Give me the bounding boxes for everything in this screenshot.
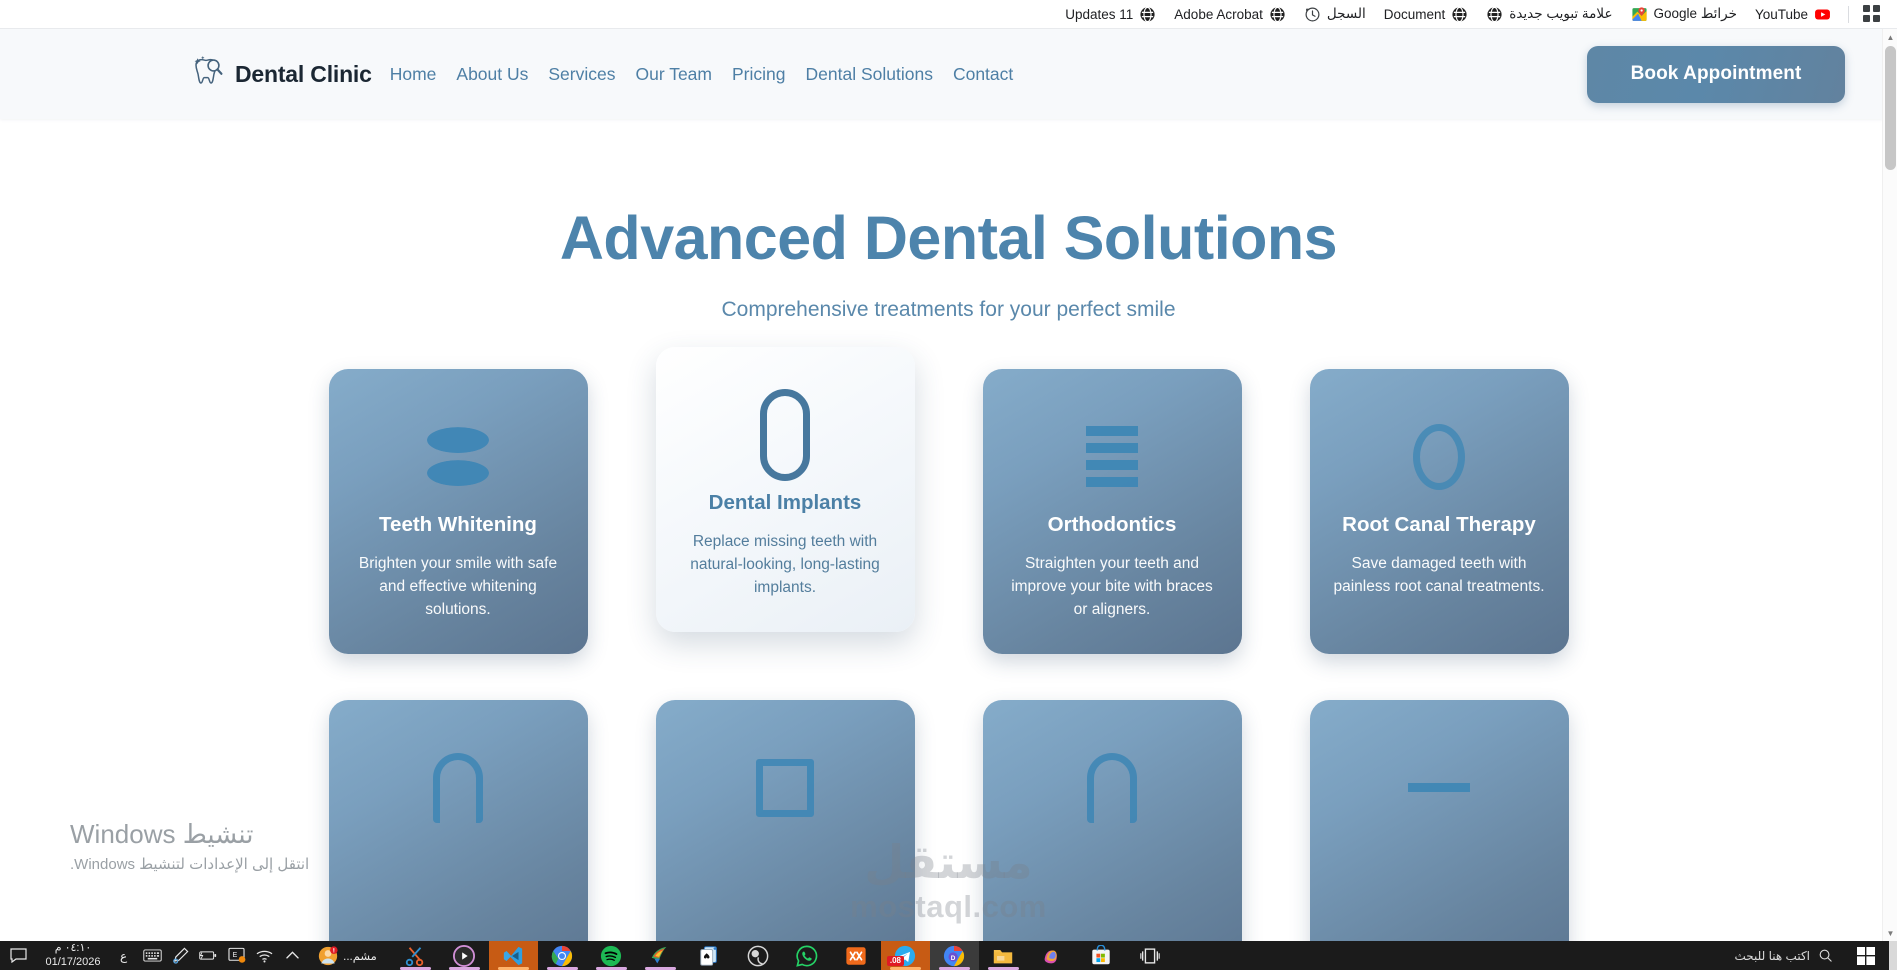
globe-icon	[1451, 6, 1468, 23]
tooth-magnifier-icon	[190, 55, 224, 93]
services-row-1: Teeth Whitening Brighten your smile with…	[0, 369, 1897, 654]
bookmark-label: خرائط Google	[1654, 6, 1737, 22]
windows-taskbar: ٠٤:١٠ م 01/17/2026 ع E	[0, 941, 1897, 970]
bookmark-label: Adobe Acrobat	[1174, 7, 1263, 22]
browser-bookmarks-bar: Updates 11 Adobe Acrobat السجل Document	[0, 0, 1897, 29]
service-card-title: Orthodontics	[1001, 513, 1224, 538]
bookmark-label: السجل	[1327, 6, 1366, 22]
internet-download-manager-icon	[649, 945, 671, 967]
task-view-icon	[1139, 945, 1161, 967]
double-lens-whitening-icon	[347, 409, 570, 505]
avatar	[318, 946, 338, 966]
system-tray: E	[137, 946, 308, 965]
battery-icon[interactable]	[199, 946, 218, 965]
bookmark-history[interactable]: السجل	[1295, 2, 1375, 26]
nav-item-services[interactable]: Services	[548, 64, 615, 85]
pen-icon[interactable]	[171, 946, 190, 965]
taskbar-app-media-player[interactable]	[440, 941, 489, 970]
taskbar-app-buttons: .08 D	[391, 941, 1175, 970]
keyboard-icon[interactable]	[143, 946, 162, 965]
taskbar-clock[interactable]: ٠٤:١٠ م 01/17/2026	[36, 942, 110, 970]
bookmark-new-tab[interactable]: علامة تبويب جديدة	[1477, 2, 1621, 26]
taskbar-search-box[interactable]: اكتب هنا للبحث	[1720, 941, 1843, 970]
show-desktop-button[interactable]	[1889, 941, 1897, 970]
service-card-orthodontics[interactable]: Orthodontics Straighten your teeth and i…	[983, 369, 1242, 654]
scroll-down-arrow[interactable]: ▼	[1883, 925, 1897, 941]
taskbar-app-chrome[interactable]	[538, 941, 587, 970]
service-card-title: Dental Implants	[674, 491, 897, 516]
vs-code-icon	[502, 945, 524, 967]
nav-item-about-us[interactable]: About Us	[456, 64, 528, 85]
taskbar-right-cluster: اكتب هنا للبحث	[1720, 941, 1897, 970]
search-icon	[1818, 948, 1833, 963]
bookmark-updates-11[interactable]: Updates 11	[1056, 2, 1165, 26]
nav-item-home[interactable]: Home	[390, 64, 437, 85]
taskbar-app-xampp[interactable]	[832, 941, 881, 970]
bookmarks-divider	[1848, 6, 1849, 23]
taskbar-task-view-button[interactable]	[1126, 941, 1175, 970]
windows-start-button[interactable]	[1843, 941, 1889, 970]
service-card-row2-2[interactable]	[656, 700, 915, 941]
services-row-2	[0, 700, 1897, 941]
nav-item-contact[interactable]: Contact	[953, 64, 1013, 85]
globe-icon	[1269, 6, 1286, 23]
snipping-tool-icon	[404, 945, 426, 967]
google-maps-icon	[1631, 6, 1648, 23]
service-card-row2-4[interactable]	[1310, 700, 1569, 941]
taskbar-app-chrome-dev[interactable]: D	[930, 941, 979, 970]
screenshot-icon[interactable]: E	[227, 946, 246, 965]
globe-icon	[1486, 6, 1503, 23]
globe-icon	[1139, 6, 1156, 23]
service-card-description: Replace missing teeth with natural-looki…	[674, 531, 897, 599]
notification-center-icon[interactable]	[0, 941, 36, 970]
implant-capsule-icon	[674, 387, 897, 483]
whatsapp-icon	[796, 945, 818, 967]
page-subtitle: Comprehensive treatments for your perfec…	[0, 298, 1897, 322]
bookmark-label: علامة تبويب جديدة	[1509, 6, 1612, 22]
bookmark-label: Updates 11	[1065, 7, 1133, 22]
nav-item-dental-solutions[interactable]: Dental Solutions	[806, 64, 933, 85]
service-card-description: Brighten your smile with safe and effect…	[347, 553, 570, 621]
arch-icon	[1001, 740, 1224, 836]
spotify-icon	[600, 945, 622, 967]
browser-page-viewport: Dental Clinic Home About Us Services Our…	[0, 29, 1897, 941]
taskbar-app-solitaire[interactable]	[685, 941, 734, 970]
taskbar-left-cluster: ٠٤:١٠ م 01/17/2026 ع E	[0, 941, 383, 970]
copilot-icon	[1041, 945, 1063, 967]
root-ring-icon	[1328, 409, 1551, 505]
service-card-teeth-whitening[interactable]: Teeth Whitening Brighten your smile with…	[329, 369, 588, 654]
svg-text:D: D	[951, 954, 956, 961]
clock-date: 01/17/2026	[45, 956, 100, 970]
chrome-icon	[551, 945, 573, 967]
media-player-icon	[453, 945, 475, 967]
service-card-description: Straighten your teeth and improve your b…	[1001, 553, 1224, 621]
taskbar-app-spotify[interactable]	[587, 941, 636, 970]
youtube-icon	[1814, 6, 1831, 23]
service-card-dental-implants[interactable]: Dental Implants Replace missing teeth wi…	[656, 347, 915, 632]
solitaire-icon	[698, 945, 720, 967]
xampp-icon	[845, 945, 867, 967]
nav-item-pricing[interactable]: Pricing	[732, 64, 786, 85]
taskbar-app-internet-download-manager[interactable]	[636, 941, 685, 970]
hero-section: Advanced Dental Solutions Comprehensive …	[0, 119, 1897, 322]
bookmark-label: Document	[1384, 7, 1446, 22]
taskbar-app-snipping-tool[interactable]	[391, 941, 440, 970]
aligner-bars-icon	[1001, 409, 1224, 505]
bookmark-youtube[interactable]: YouTube	[1746, 2, 1840, 26]
service-card-row2-1[interactable]	[329, 700, 588, 941]
windows-logo-icon	[1857, 947, 1875, 965]
taskbar-app-obs-studio[interactable]	[734, 941, 783, 970]
site-header: Dental Clinic Home About Us Services Our…	[0, 29, 1883, 119]
bookmark-document[interactable]: Document	[1375, 2, 1478, 26]
nav-item-our-team[interactable]: Our Team	[635, 64, 712, 85]
bookmark-label: YouTube	[1755, 7, 1808, 22]
brand-name: Dental Clinic	[235, 61, 372, 88]
service-card-root-canal-therapy[interactable]: Root Canal Therapy Save damaged teeth wi…	[1310, 369, 1569, 654]
taskbar-app-file-explorer[interactable]	[979, 941, 1028, 970]
bookmark-apps-grid-icon[interactable]	[1863, 5, 1881, 23]
book-appointment-button[interactable]: Book Appointment	[1587, 46, 1845, 103]
user-label: مشم...	[343, 949, 377, 963]
user-account-area[interactable]: مشم...	[308, 946, 383, 966]
page-title: Advanced Dental Solutions	[0, 206, 1897, 271]
taskbar-app-telegram[interactable]: .08	[881, 941, 930, 970]
telegram-badge: .08	[887, 956, 904, 966]
service-card-title: Teeth Whitening	[347, 513, 570, 538]
bookmark-google-maps[interactable]: خرائط Google	[1622, 2, 1746, 26]
taskbar-app-copilot[interactable]	[1028, 941, 1077, 970]
history-icon	[1304, 6, 1321, 23]
obs-studio-icon	[747, 945, 769, 967]
scroll-up-arrow[interactable]: ▲	[1883, 29, 1897, 45]
language-indicator[interactable]: ع	[110, 949, 137, 963]
services-grid: Teeth Whitening Brighten your smile with…	[0, 369, 1897, 941]
dash-icon	[1328, 740, 1551, 836]
arch-icon	[347, 740, 570, 836]
file-explorer-icon	[992, 945, 1014, 967]
scrollbar-thumb[interactable]	[1885, 46, 1896, 170]
taskbar-app-whatsapp[interactable]	[783, 941, 832, 970]
service-card-row2-3[interactable]	[983, 700, 1242, 941]
search-input[interactable]: اكتب هنا للبحث	[1734, 949, 1810, 963]
main-nav: Home About Us Services Our Team Pricing …	[390, 64, 1014, 85]
chrome-dev-icon: D	[943, 945, 965, 967]
bookmark-adobe-acrobat[interactable]: Adobe Acrobat	[1165, 2, 1295, 26]
service-card-title: Root Canal Therapy	[1328, 513, 1551, 538]
svg-text:E: E	[233, 951, 238, 959]
show-hidden-icons-chevron-icon[interactable]	[283, 946, 302, 965]
clock-time: ٠٤:١٠ م	[55, 942, 92, 956]
square-icon	[674, 740, 897, 836]
taskbar-app-microsoft-store[interactable]	[1077, 941, 1126, 970]
wifi-icon[interactable]	[255, 946, 274, 965]
microsoft-store-icon	[1090, 945, 1112, 967]
page-scrollbar[interactable]: ▲ ▼	[1882, 29, 1897, 941]
taskbar-app-vs-code[interactable]	[489, 941, 538, 970]
service-card-description: Save damaged teeth with painless root ca…	[1328, 553, 1551, 598]
brand[interactable]: Dental Clinic	[190, 55, 372, 93]
